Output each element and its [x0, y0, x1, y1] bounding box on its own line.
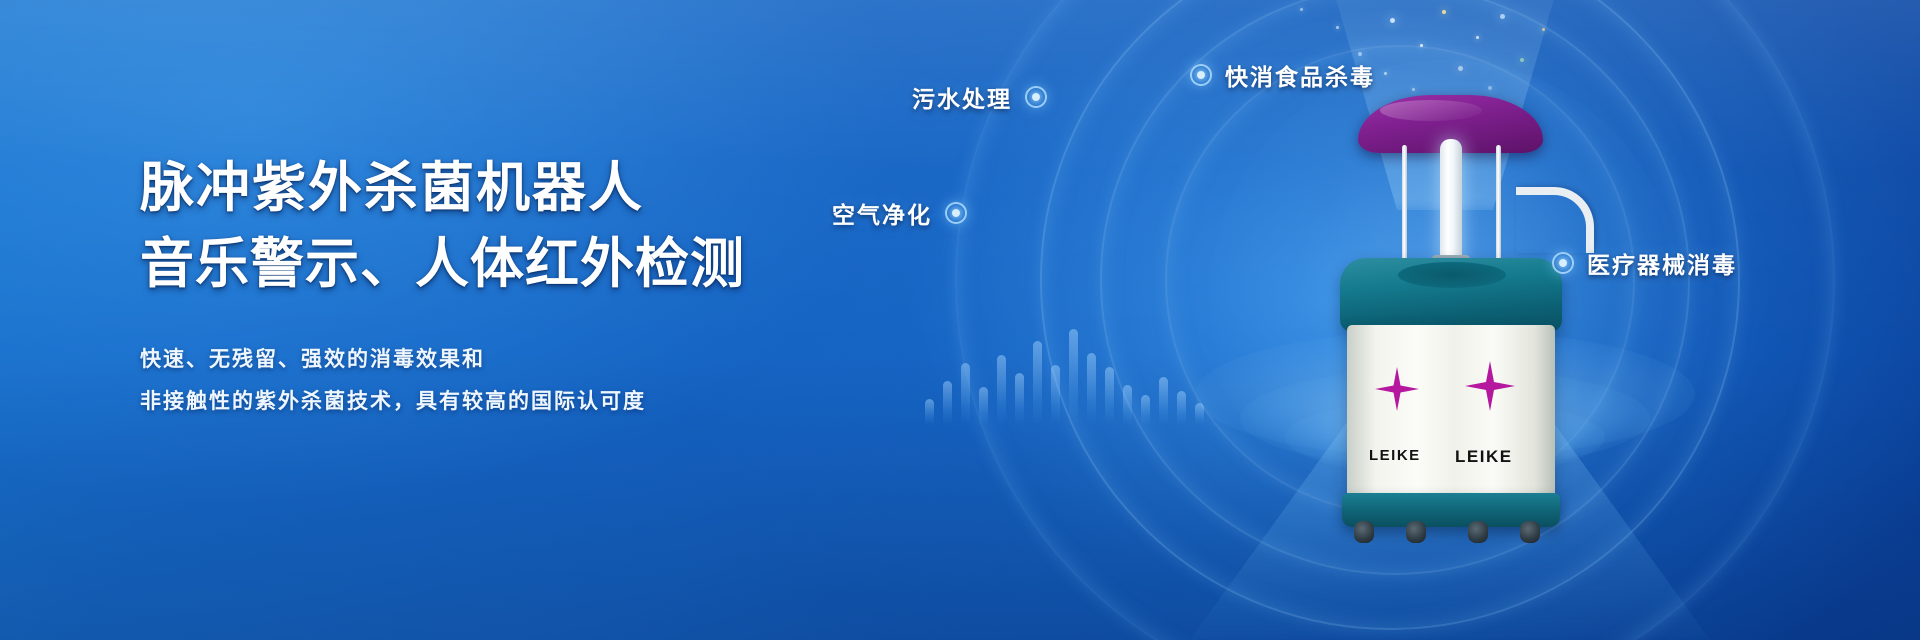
waveform-bar: [943, 381, 952, 425]
uv-disinfection-robot: LEIKE LEIKE: [1320, 95, 1580, 495]
hotspot-sewage-treatment[interactable]: 污水处理: [912, 80, 1047, 114]
subtitle-line-2: 非接触性的紫外杀菌技术，具有较高的国际认可度: [140, 380, 860, 422]
sparkle-particle: [1300, 8, 1303, 11]
sparkle-particle: [1476, 36, 1479, 39]
hotspot-medical-device-disinfection[interactable]: 医疗器械消毒: [1552, 246, 1737, 280]
sparkle-particle: [1442, 10, 1446, 14]
caster-wheel: [1520, 521, 1540, 543]
lamp-support-rod-right: [1496, 145, 1501, 263]
headline-line-2: 音乐警示、人体红外检测: [140, 226, 860, 302]
lamp-support-rod-left: [1402, 145, 1407, 263]
node-dot-icon: [1190, 64, 1212, 86]
brand-label-left: LEIKE: [1369, 447, 1421, 464]
sparkle-particle: [1520, 58, 1524, 62]
node-dot-icon: [945, 202, 967, 224]
waveform-bar: [925, 399, 934, 425]
device-body-panel: LEIKE LEIKE: [1347, 325, 1555, 500]
node-dot-icon: [1552, 252, 1574, 274]
subtitle-line-1: 快速、无残留、强效的消毒效果和: [140, 338, 860, 380]
hotspot-label: 医疗器械消毒: [1587, 246, 1737, 280]
sparkle-particle: [1336, 26, 1339, 29]
sparkle-particle: [1412, 88, 1415, 91]
product-banner: 脉冲紫外杀菌机器人 音乐警示、人体红外检测 快速、无残留、强效的消毒效果和 非接…: [0, 0, 1920, 640]
device-top-cap: [1340, 258, 1562, 332]
sparkle-particle: [1542, 28, 1545, 31]
subtitle-block: 快速、无残留、强效的消毒效果和 非接触性的紫外杀菌技术，具有较高的国际认可度: [140, 338, 860, 422]
hotspot-label: 污水处理: [912, 80, 1012, 114]
hotspot-label: 空气净化: [832, 196, 932, 230]
sparkle-particle: [1420, 44, 1423, 47]
sparkle-particle: [1458, 66, 1463, 71]
caster-wheel: [1468, 521, 1488, 543]
brand-label-right: LEIKE: [1455, 447, 1513, 467]
sparkle-particle: [1384, 72, 1387, 75]
sparkle-star-icon-left: [1375, 367, 1419, 411]
hotspot-air-purification[interactable]: 空气净化: [832, 196, 967, 230]
sparkle-particle: [1390, 18, 1395, 23]
headline-copy-block: 脉冲紫外杀菌机器人 音乐警示、人体红外检测 快速、无残留、强效的消毒效果和 非接…: [140, 150, 860, 422]
node-dot-icon: [1025, 86, 1047, 108]
sparkle-particle: [1500, 14, 1505, 19]
headline-line-1: 脉冲紫外杀菌机器人: [140, 150, 860, 226]
sparkle-star-icon-right: [1465, 361, 1515, 411]
caster-wheel: [1406, 521, 1426, 543]
hotspot-fast-food-disinfection[interactable]: 快消食品杀毒: [1190, 58, 1375, 92]
hotspot-label: 快消食品杀毒: [1225, 58, 1375, 92]
uv-lamp-tube: [1440, 139, 1462, 264]
sparkle-particle: [1358, 52, 1362, 56]
product-stage: LEIKE LEIKE 污水处理 快消食品杀毒 空气净化 医疗器械消毒: [1090, 0, 1920, 640]
caster-wheel: [1354, 521, 1374, 543]
sparkle-particle: [1488, 86, 1492, 90]
